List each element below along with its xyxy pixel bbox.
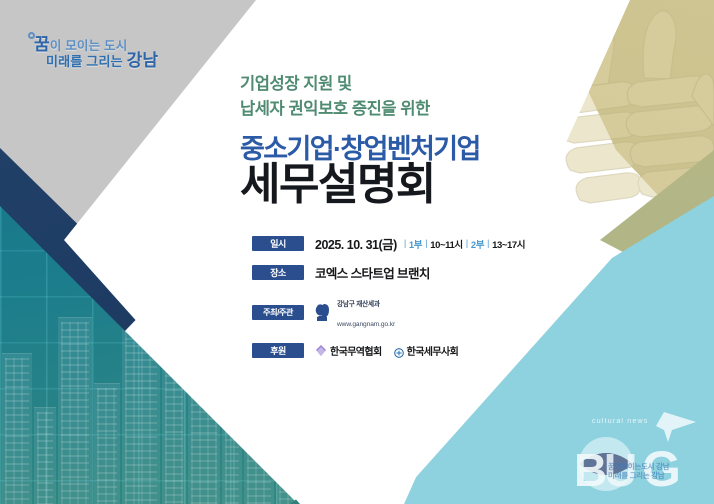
sponsor-kita-name: 한국무역협회 (330, 343, 382, 358)
date-body: 2025. 10. 31(금) |1부| 10~11시 |2부| 13~17시 (315, 234, 525, 253)
watermark-sub-line-1: 꿈이모이는도시 강남 (608, 462, 669, 471)
pipe-right-2: | (487, 238, 489, 249)
poster-subtitle: 기업성장 지원 및 납세자 권익보호 증진을 위한 (240, 72, 430, 122)
host-text: 강남구 재산세과 www.gangnam.go.kr (337, 292, 395, 332)
pipe-left-1: | (404, 238, 406, 249)
event-date: 2025. 10. 31(금) (315, 234, 397, 253)
event-venue: 코엑스 스타트업 브랜치 (315, 263, 430, 282)
host-organization: 강남구 재산세과 www.gangnam.go.kr (315, 292, 395, 332)
host-url[interactable]: www.gangnam.go.kr (337, 321, 395, 328)
kacpta-circle-icon (394, 345, 404, 355)
subtitle-line-1: 기업성장 지원 및 (240, 72, 430, 97)
info-row-place: 장소 코엑스 스타트업 브랜치 (252, 263, 672, 282)
poster-title-line-2: 세무설명회 (240, 163, 435, 207)
sponsor-kacpta: 한국세무사회 (394, 343, 459, 358)
badge-date: 일시 (252, 236, 304, 251)
badge-host: 주최/주관 (252, 305, 304, 320)
sponsor-kacpta-name: 한국세무사회 (407, 343, 459, 358)
subtitle-line-2: 납세자 권익보호 증진을 위한 (240, 97, 430, 122)
svg-text:B: B (574, 444, 607, 496)
poster-title-line-1: 중소기업·창업벤처기업 (240, 136, 480, 163)
watermark-sub-line-2: 미래를 그리는 강남 (608, 471, 664, 480)
session-1-label: 1부 (409, 237, 422, 251)
session-times: |1부| 10~11시 |2부| 13~17시 (404, 237, 525, 251)
session-2-label: 2부 (471, 237, 484, 251)
badge-place: 장소 (252, 265, 304, 280)
sponsor-body: 한국무역협회 한국세무사회 (315, 343, 458, 358)
gangnam-emblem-icon (315, 303, 332, 322)
event-poster: 꿈이 모이는 도시 미래를 그리는 강남 기업성장 지원 및 납세자 권익보호 … (0, 0, 714, 504)
watermark-caption: cultural news (592, 418, 648, 425)
sponsor-list: 한국무역협회 한국세무사회 (315, 343, 458, 358)
bug-watermark: B U G cultural news 꿈이모이는도시 강남 미래를 그리는 강… (560, 408, 712, 500)
event-info-block: 일시 2025. 10. 31(금) |1부| 10~11시 |2부| 13~1… (252, 234, 672, 358)
host-body: 강남구 재산세과 www.gangnam.go.kr (315, 292, 395, 332)
pipe-right-1: | (425, 238, 427, 249)
info-row-host: 주최/주관 강남구 재산세과 www.gangnam.go.kr (252, 292, 672, 332)
info-row-date: 일시 2025. 10. 31(금) |1부| 10~11시 |2부| 13~1… (252, 234, 672, 253)
kita-diamond-icon (315, 344, 327, 356)
host-org-name: 강남구 재산세과 (337, 301, 380, 308)
watermark-subtext: 꿈이모이는도시 강남 미래를 그리는 강남 (608, 462, 669, 481)
place-body: 코엑스 스타트업 브랜치 (315, 263, 430, 282)
pipe-left-2: | (466, 238, 468, 249)
badge-sponsor: 후원 (252, 343, 304, 358)
session-2-time: 13~17시 (492, 237, 525, 251)
sponsor-kita: 한국무역협회 (315, 343, 382, 358)
session-1-time: 10~11시 (430, 237, 463, 251)
info-row-sponsor: 후원 한국무역협회 (252, 342, 672, 358)
